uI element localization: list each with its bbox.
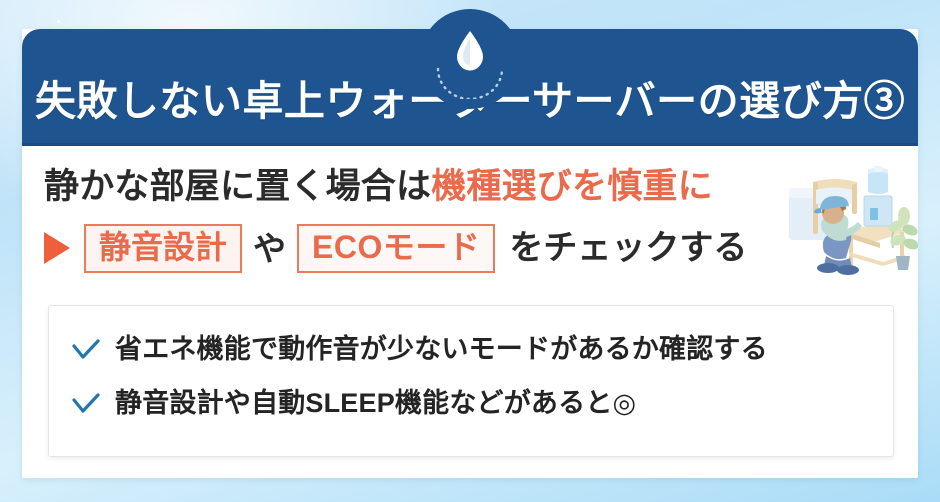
- headline-block: 静かな部屋に置く場合は 機種選びを慎重に 静音設計 や ECOモード をチェック…: [44, 163, 784, 273]
- checklist-item-label: 静音設計や自動SLEEP機能などがあると◎: [115, 389, 636, 419]
- headline-tail-text: をチェックする: [509, 231, 747, 265]
- check-icon: [71, 338, 101, 362]
- headline-conjunction: や: [253, 232, 286, 265]
- background-sparkle-dot: [57, 20, 60, 23]
- checklist-item-text: 省エネ機能で動作音が少ないモードがあるか確認する: [115, 334, 768, 364]
- headline-line-1: 静かな部屋に置く場合は 機種選びを慎重に: [44, 163, 784, 209]
- headline-plain-text: 静かな部屋に置く場合は: [44, 169, 431, 204]
- play-triangle-icon: [44, 232, 70, 264]
- headline-line-2: 静音設計 や ECOモード をチェックする: [44, 223, 784, 273]
- checklist-item: 静音設計や自動SLEEP機能などがあると◎: [71, 382, 636, 426]
- check-icon: [71, 392, 101, 416]
- checklist-item-label: 省エネ機能で動作音が少ないモードがあるか確認する: [115, 335, 768, 365]
- checklist-card: 省エネ機能で動作音が少ないモードがあるか確認する 静音設計や自動SLEEP機能な…: [48, 305, 894, 457]
- drop-dotted-arc-icon: [436, 65, 504, 99]
- checklist-item: 省エネ機能で動作音が少ないモードがあるか確認する: [71, 328, 768, 372]
- water-drop-badge: [420, 9, 520, 109]
- headline-accent-text: 機種選びを慎重に: [431, 169, 713, 204]
- tag-eco-mode: ECOモード: [297, 224, 495, 273]
- checklist-item-text: 静音設計や自動SLEEP機能などがあると◎: [115, 388, 636, 418]
- infographic-canvas: 失敗しない卓上ウォーターサーバーの選び方③ 静かな部屋に置く場合は 機種選びを慎…: [0, 0, 940, 502]
- person-with-water-server-illustration: [786, 160, 918, 285]
- tag-quiet-design: 静音設計: [84, 224, 242, 273]
